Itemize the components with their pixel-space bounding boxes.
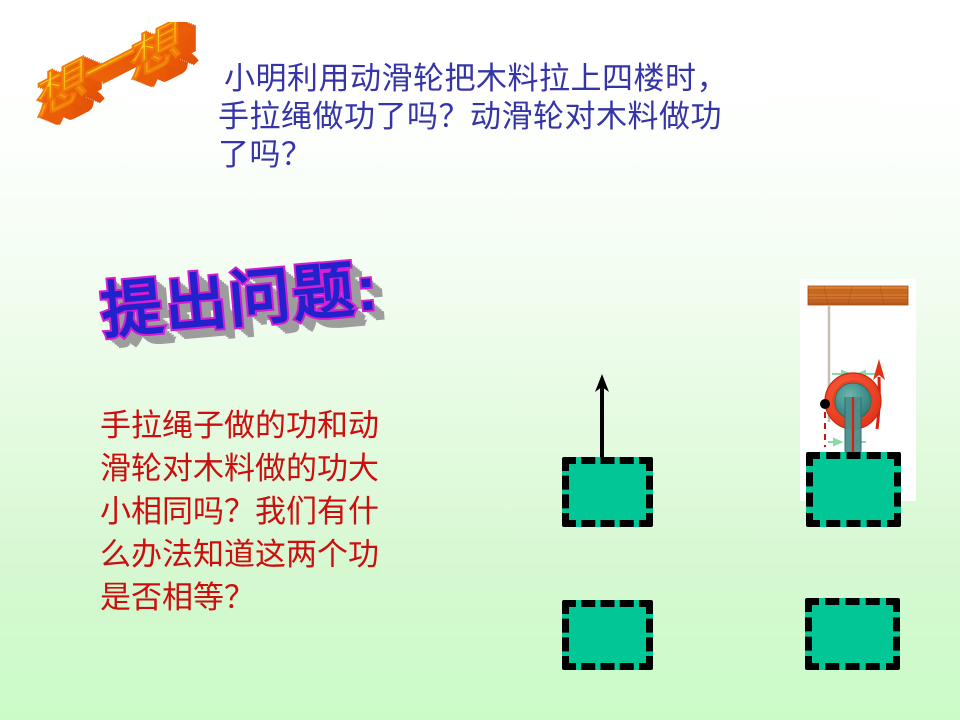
table-row <box>562 600 653 670</box>
body-line-4: 么办法知道这两个功 <box>100 533 520 576</box>
slide-canvas: 想 想 想 想 想 想 想 想 想 想 <box>0 0 960 720</box>
title-text: 小明利用动滑轮把木料拉上四楼时， 手拉绳做功了吗？动滑轮对木料做功 了吗？ <box>218 60 948 174</box>
table-row <box>562 457 653 527</box>
wordart-think-think: 想 想 想 想 想 想 想 想 想 想 <box>26 22 201 157</box>
body-line-3: 小相同吗？我们有什 <box>100 490 520 533</box>
body-line-1: 手拉绳子做的功和动 <box>100 404 520 447</box>
title-line-2: 手拉绳做功了吗？动滑轮对木料做功 <box>218 98 948 136</box>
body-line-2: 滑轮对木料做的功大 <box>100 447 520 490</box>
table-row <box>806 452 901 527</box>
wordart-raise-question-heading: 提出问题: 提出问题: 提出问题: 提出问题: 提出问题: 提出问题: 提出问题… <box>95 245 425 365</box>
lift-arrow-up-icon <box>590 374 614 464</box>
pulley-bracket-icon <box>845 397 861 457</box>
body-line-5: 是否相等？ <box>100 576 520 619</box>
title-line-1: 小明利用动滑轮把木料拉上四楼时， <box>218 60 948 98</box>
rope-anchor-dot-icon <box>820 399 830 409</box>
table-row <box>805 598 900 670</box>
body-text: 手拉绳子做的功和动 滑轮对木料做的功大 小相同吗？我们有什 么办法知道这两个功 … <box>100 404 520 619</box>
title-line-3: 了吗？ <box>218 136 948 174</box>
wood-beam-icon <box>808 286 908 305</box>
